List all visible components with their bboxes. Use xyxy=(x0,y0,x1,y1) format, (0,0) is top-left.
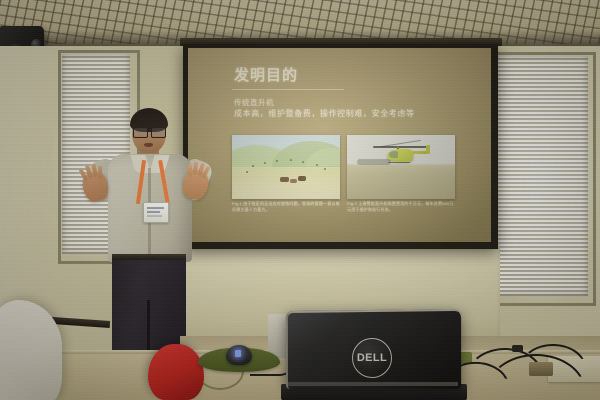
dell-logo-icon: DELL xyxy=(352,338,392,378)
slide-title-underline xyxy=(232,89,344,90)
ground-vehicle-shape xyxy=(357,159,391,165)
helicopter-fin xyxy=(426,145,430,154)
right-window-blinds xyxy=(492,56,588,296)
slide-figure-2 xyxy=(347,135,455,199)
mouse-led-icon xyxy=(235,350,241,357)
dell-logo-text: DELL xyxy=(357,352,387,364)
slide-subtitle-line2: 成本高，维护整备费，操作控制难，安全考虑等 xyxy=(234,108,415,119)
slide-figure-1 xyxy=(232,135,340,199)
glasses-lens-right xyxy=(151,127,166,138)
glasses-lens-left xyxy=(133,127,148,138)
slide-title: 发明目的 xyxy=(234,64,298,85)
slide-figure-2-caption: Fig.2 上海警航直升机购置费用约千万元，每年花费600万元用于维护和执行任务… xyxy=(347,201,457,212)
helicopter-cockpit xyxy=(389,151,398,158)
slide-subtitle-line1: 传统直升机 xyxy=(234,97,274,108)
name-badge xyxy=(143,202,169,223)
helicopter-skid xyxy=(388,162,410,163)
helicopter-rotor-icon xyxy=(373,146,429,148)
lecture-room-photo: 发明目的 传统直升机 成本高，维护整备费，操作控制难，安全考虑等 Fig.1 由… xyxy=(0,0,600,400)
cattle-shape xyxy=(298,176,306,181)
cattle-shape xyxy=(280,177,289,182)
cable-ferrite-bead xyxy=(512,345,523,352)
cattle-shape xyxy=(290,179,297,183)
speaker-mouth xyxy=(144,143,153,147)
slide-figure-1-caption: Fig.1 由于牧区机无法应对放牧问题，牧场的管理一直以来机需大量人力畜力。 xyxy=(232,201,342,212)
laptop-hinge xyxy=(286,382,458,386)
glasses-bridge xyxy=(146,131,151,132)
cable-connector xyxy=(529,362,553,376)
eyeglasses-icon xyxy=(132,127,166,136)
red-chair[interactable] xyxy=(148,344,204,400)
speaker-belt xyxy=(112,254,186,260)
projection-screen: 发明目的 传统直升机 成本高，维护整备费，操作控制难，安全考虑等 Fig.1 由… xyxy=(188,48,491,242)
